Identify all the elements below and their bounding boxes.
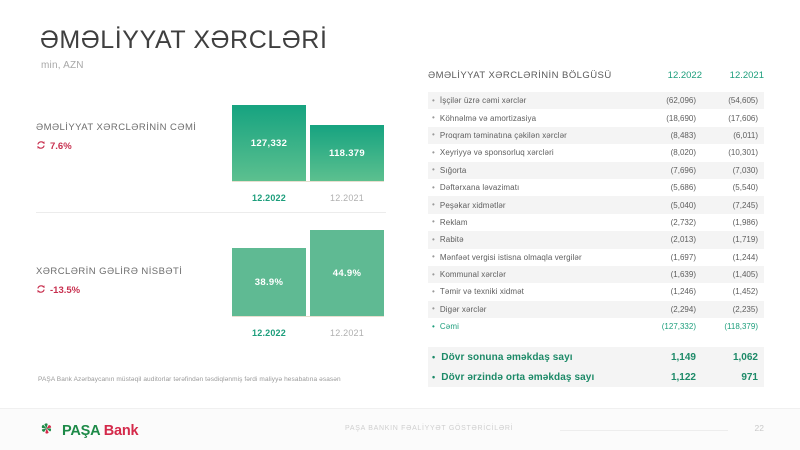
table-row-label: •İşçilər üzrə cəmi xərclər [432,96,634,105]
table-row-value-prior: (118,379) [696,322,758,331]
table-row-label-text: Təmir və texniki xidmət [440,287,524,296]
bullet-icon: • [432,201,435,209]
bullet-icon: • [432,253,435,261]
table-row-value-current: (18,690) [634,114,696,123]
table-row-value-prior: (10,301) [696,148,758,157]
table-row-value-current: (5,040) [634,201,696,210]
table-row-value-current: (7,696) [634,166,696,175]
table-row-label-text: Peşəkar xidmətlər [440,201,506,210]
table-row-value-prior: (1,452) [696,287,758,296]
logo-text-bank: Bank [104,423,139,439]
table-row-label-text: Sığorta [440,166,467,175]
axis-line [232,181,384,182]
bullet-icon: • [432,114,435,122]
employee-row-label: •Dövr sonuna əməkdaş sayı [432,352,634,363]
axis-labels: 12.2022 12.2021 [232,328,384,338]
table-row-label: •Köhnəlmə və amortizasiya [432,114,634,123]
section-divider [36,212,386,213]
table-row: •Rabitə(2,013)(1,719) [428,231,764,248]
table-row-value-current: (8,020) [634,148,696,157]
bullet-icon: • [432,149,435,157]
bullet-icon: • [432,353,435,362]
table-row-value-current: (1,639) [634,270,696,279]
table-row-value-current: (5,686) [634,183,696,192]
table-row-label: •Mənfəət vergisi istisna olmaqla vergilə… [432,253,634,262]
table-row: •Təmir və texniki xidmət(1,246)(1,452) [428,283,764,300]
logo-text-pasa: PAŞA [62,423,100,439]
table-row-value-prior: (1,244) [696,253,758,262]
table-row-label: •Cəmi [432,322,634,331]
bars-row: 127,332 118.379 [232,105,384,181]
chart-delta-value: 7.6% [50,141,72,152]
bar-current[interactable]: 127,332 [232,105,306,181]
table-body: •İşçilər üzrə cəmi xərclər(62,096)(54,60… [428,92,764,335]
table-row-value-current: (2,013) [634,235,696,244]
chart-caption: ƏMƏLİYYAT XƏRCLƏRİNİN CƏMİ 7.6% [36,122,226,153]
table-row-label-text: Dəftərxana ləvazimatı [440,183,519,192]
bullet-icon: • [432,236,435,244]
table-row-label-text: Proqram təminatına çəkilən xərclər [440,131,567,140]
table-row-value-prior: (1,986) [696,218,758,227]
chart-title: XƏRCLƏRİN GƏLİRƏ NİSBƏTİ [36,266,226,277]
table-row: •İşçilər üzrə cəmi xərclər(62,096)(54,60… [428,92,764,109]
table-row-value-current: (127,332) [634,322,696,331]
bar-value-prior: 44.9% [333,268,361,279]
table-row-value-current: (62,096) [634,96,696,105]
bar-column-current: 38.9% [232,248,306,316]
chart-delta: -13.5% [36,284,226,297]
refresh-arrows-icon [36,140,46,153]
bar-column-prior: 118.379 [310,125,384,181]
pinwheel-logo-icon [38,420,55,442]
table-row-value-prior: (1,405) [696,270,758,279]
table-row: •Sığorta(7,696)(7,030) [428,162,764,179]
axis-line [232,316,384,317]
table-row-label-text: Digər xərclər [440,305,487,314]
footnote: PAŞA Bank Azərbaycanın müstəqil auditorl… [38,376,341,383]
table-row-label: •Reklam [432,218,634,227]
employee-row-label: •Dövr ərzində orta əməkdaş sayı [432,372,634,383]
bar-column-current: 127,332 [232,105,306,181]
table-column-header-prior: 12.2021 [702,70,764,81]
table-row-label-text: Mənfəət vergisi istisna olmaqla vergilər [440,253,582,262]
axis-label-prior: 12.2021 [310,193,384,203]
bar-column-prior: 44.9% [310,230,384,316]
bullet-icon: • [432,271,435,279]
table-row-label-text: Köhnəlmə və amortizasiya [440,114,536,123]
table-row-value-current: (1,246) [634,287,696,296]
table-row-value-current: (8,483) [634,131,696,140]
table-row-value-current: (1,697) [634,253,696,262]
page-subtitle: min, AZN [41,60,84,71]
table-row: •Reklam(2,732)(1,986) [428,214,764,231]
table-row-label-text: İşçilər üzrə cəmi xərclər [440,96,527,105]
table-row: •Cəmi(127,332)(118,379) [428,318,764,335]
pasa-bank-logo[interactable]: PAŞA Bank [38,420,138,442]
table-column-header-current: 12.2022 [640,70,702,81]
bullet-icon: • [432,373,435,382]
employee-stats-block: •Dövr sonuna əməkdaş sayı1,1491,062•Dövr… [428,347,764,387]
bar-prior[interactable]: 118.379 [310,125,384,181]
table-row-value-prior: (5,540) [696,183,758,192]
bullet-icon: • [432,288,435,296]
bar-value-prior: 118.379 [329,148,365,159]
employee-row-value-current: 1,149 [634,352,696,363]
footer-rule [560,430,728,431]
table-row-label-text: Xeyriyyə və sponsorluq xərcləri [440,148,554,157]
bar-prior[interactable]: 44.9% [310,230,384,316]
bars-row: 38.9% 44.9% [232,230,384,316]
chart-caption: XƏRCLƏRİN GƏLİRƏ NİSBƏTİ -13.5% [36,266,226,297]
expense-breakdown-table: ƏMƏLİYYAT XƏRCLƏRİNİN BÖLGÜSÜ 12.2022 12… [428,70,764,387]
table-row-value-prior: (54,605) [696,96,758,105]
refresh-arrows-icon [36,284,46,297]
bottom-bar: PAŞA Bank PAŞA BANKIN FƏALİYYƏT GÖSTƏRİC… [0,408,800,450]
axis-label-prior: 12.2021 [310,328,384,338]
table-row-label: •Sığorta [432,166,634,175]
bullet-icon: • [432,166,435,174]
table-row: •Peşəkar xidmətlər(5,040)(7,245) [428,196,764,213]
bars-area: 127,332 118.379 12.2022 12.2021 [232,100,384,205]
bullet-icon: • [432,305,435,313]
table-row: •Köhnəlmə və amortizasiya(18,690)(17,606… [428,109,764,126]
table-row-label: •Proqram təminatına çəkilən xərclər [432,131,634,140]
table-row: •Dəftərxana ləvazimatı(5,686)(5,540) [428,179,764,196]
table-row: •Xeyriyyə və sponsorluq xərcləri(8,020)(… [428,144,764,161]
table-row-value-current: (2,294) [634,305,696,314]
bullet-icon: • [432,97,435,105]
table-row-value-prior: (7,030) [696,166,758,175]
bullet-icon: • [432,218,435,226]
chart-total-operating-expenses: ƏMƏLİYYAT XƏRCLƏRİNİN CƏMİ 7.6% 127,332 [36,100,386,205]
table-row-value-prior: (6,011) [696,131,758,140]
bullet-icon: • [432,184,435,192]
table-row-label: •Rabitə [432,235,634,244]
axis-label-current: 12.2022 [232,328,306,338]
table-row-value-current: (2,732) [634,218,696,227]
chart-cost-to-income-ratio: XƏRCLƏRİN GƏLİRƏ NİSBƏTİ -13.5% 38.9% [36,228,386,340]
table-row: •Kommunal xərclər(1,639)(1,405) [428,266,764,283]
table-row-label: •Kommunal xərclər [432,270,634,279]
bar-value-current: 38.9% [255,277,283,288]
table-row: •Mənfəət vergisi istisna olmaqla vergilə… [428,249,764,266]
table-row-value-prior: (17,606) [696,114,758,123]
axis-label-current: 12.2022 [232,193,306,203]
employee-row: •Dövr ərzində orta əməkdaş sayı1,122971 [428,367,764,387]
bar-value-current: 127,332 [251,138,287,149]
logo-text: PAŞA Bank [62,423,138,439]
table-row: •Proqram təminatına çəkilən xərclər(8,48… [428,127,764,144]
bullet-icon: • [432,323,435,331]
employee-row: •Dövr sonuna əməkdaş sayı1,1491,062 [428,347,764,367]
employee-row-label-text: Dövr sonuna əməkdaş sayı [441,352,572,363]
table-row-value-prior: (2,235) [696,305,758,314]
page-number: 22 [755,423,764,433]
table-row: •Digər xərclər(2,294)(2,235) [428,301,764,318]
bar-current[interactable]: 38.9% [232,248,306,316]
bars-area: 38.9% 44.9% 12.2022 12.2021 [232,228,384,340]
table-row-value-prior: (1,719) [696,235,758,244]
employee-row-label-text: Dövr ərzində orta əməkdaş sayı [441,372,594,383]
table-row-label: •Xeyriyyə və sponsorluq xərcləri [432,148,634,157]
table-row-label: •Digər xərclər [432,305,634,314]
table-row-label: •Peşəkar xidmətlər [432,201,634,210]
table-row-label-text: Cəmi [440,322,459,331]
chart-title: ƏMƏLİYYAT XƏRCLƏRİNİN CƏMİ [36,122,226,133]
table-title: ƏMƏLİYYAT XƏRCLƏRİNİN BÖLGÜSÜ [428,70,640,81]
table-row-value-prior: (7,245) [696,201,758,210]
employee-row-value-prior: 1,062 [696,352,758,363]
employee-row-value-prior: 971 [696,372,758,383]
table-row-label-text: Kommunal xərclər [440,270,506,279]
chart-delta-value: -13.5% [50,285,80,296]
axis-labels: 12.2022 12.2021 [232,193,384,203]
employee-row-value-current: 1,122 [634,372,696,383]
bullet-icon: • [432,131,435,139]
table-row-label: •Təmir və texniki xidmət [432,287,634,296]
footer-caption: PAŞA BANKIN FƏALİYYƏT GÖSTƏRİCİLƏRİ [345,425,513,432]
page-title: ƏMƏLİYYAT XƏRCLƏRİ [40,26,328,55]
table-row-label-text: Reklam [440,218,468,227]
chart-delta: 7.6% [36,140,226,153]
table-row-label-text: Rabitə [440,235,464,244]
table-header: ƏMƏLİYYAT XƏRCLƏRİNİN BÖLGÜSÜ 12.2022 12… [428,70,764,92]
table-row-label: •Dəftərxana ləvazimatı [432,183,634,192]
